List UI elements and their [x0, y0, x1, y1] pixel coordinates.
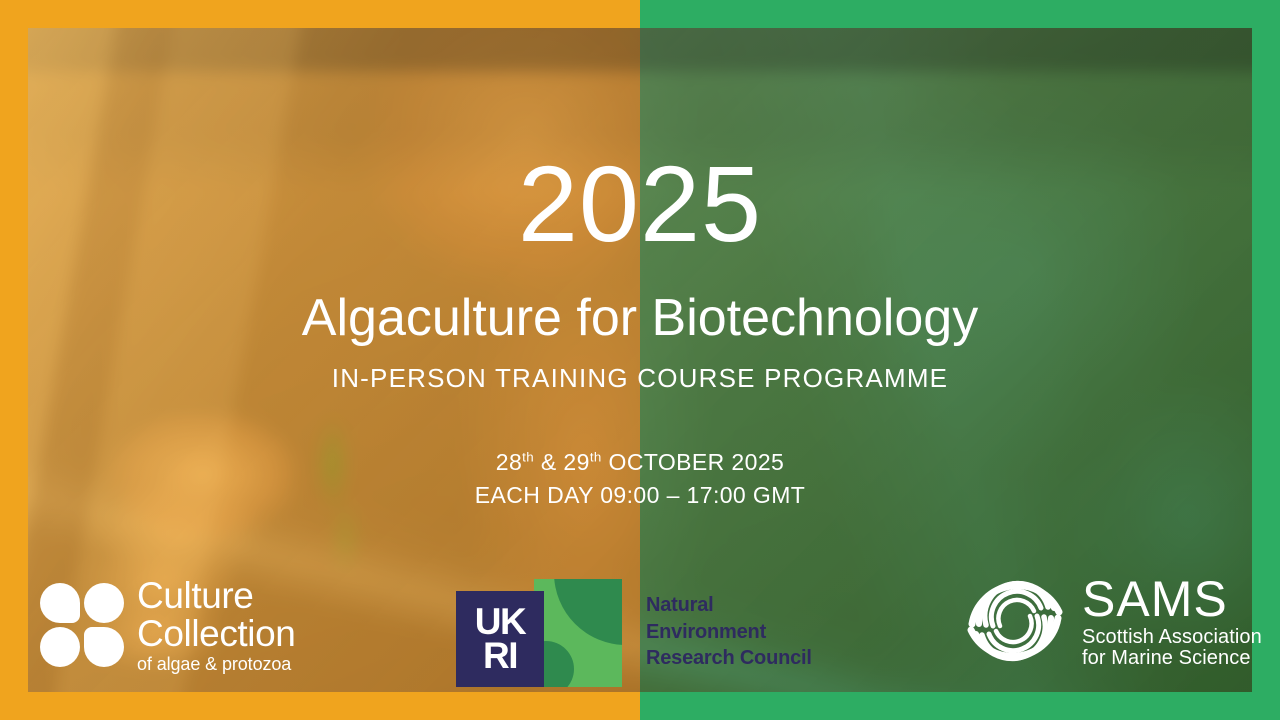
sams-wordmark: SAMS Scottish Association for Marine Sci…	[1082, 573, 1262, 669]
ukri-line-1: UK	[475, 605, 525, 639]
quatrefoil-circle-bottom-right	[84, 627, 124, 667]
nerc-line-1: Natural	[646, 592, 812, 618]
sams-subtitle-1: Scottish Association	[1082, 627, 1262, 648]
nerc-logo: UK RI Natural Environment Research Counc…	[456, 577, 812, 687]
sams-wave-circle-icon	[962, 568, 1068, 674]
nerc-line-2: Environment	[646, 619, 812, 645]
ccap-line-3: of algae & protozoa	[137, 655, 295, 673]
sams-subtitle-2: for Marine Science	[1082, 648, 1262, 669]
quatrefoil-circle-top-right	[84, 583, 124, 623]
ukri-mark: UK RI	[456, 577, 624, 687]
poster-canvas: 2025 Algaculture for Biotechnology IN-PE…	[0, 0, 1280, 720]
logo-row: Culture Collection of algae & protozoa U…	[0, 0, 1280, 720]
ukri-line-2: RI	[483, 639, 517, 673]
quatrefoil-icon	[40, 583, 124, 667]
nerc-wordmark: Natural Environment Research Council	[646, 592, 812, 671]
quatrefoil-circle-top-left	[40, 583, 80, 623]
culture-collection-wordmark: Culture Collection of algae & protozoa	[137, 577, 295, 674]
nerc-green-square-icon	[534, 579, 622, 687]
sams-title: SAMS	[1082, 573, 1262, 625]
nerc-arc-shape	[554, 579, 622, 645]
ccap-line-2: Collection	[137, 615, 295, 653]
culture-collection-logo: Culture Collection of algae & protozoa	[40, 577, 295, 674]
quatrefoil-circle-bottom-left	[40, 627, 80, 667]
ukri-badge: UK RI	[456, 591, 544, 687]
nerc-line-3: Research Council	[646, 645, 812, 671]
ccap-line-1: Culture	[137, 577, 295, 615]
sams-logo: SAMS Scottish Association for Marine Sci…	[962, 568, 1262, 674]
